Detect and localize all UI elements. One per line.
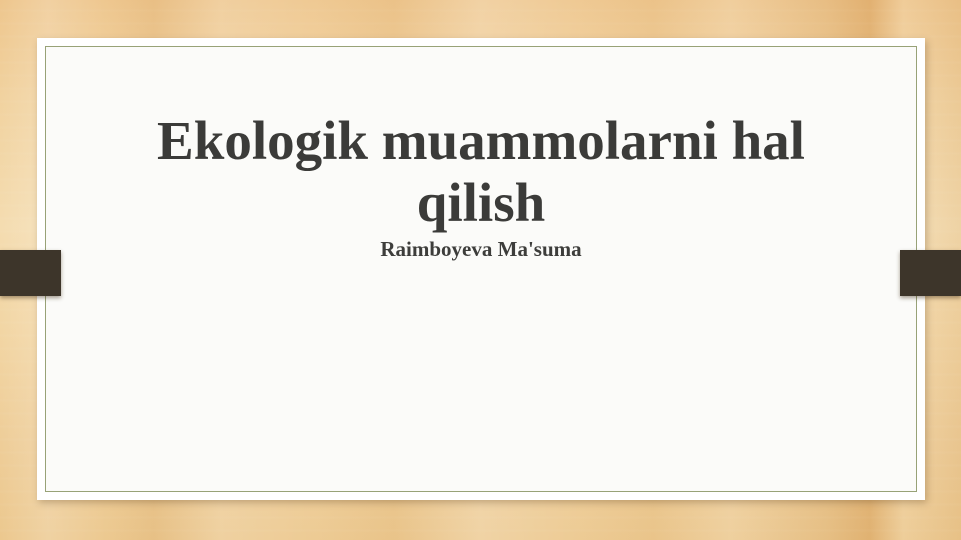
slide-content: Ekologik muammolarni hal qilish Raimboye… xyxy=(45,46,917,492)
slide-title: Ekologik muammolarni hal qilish xyxy=(105,110,857,233)
presentation-slide: Ekologik muammolarni hal qilish Raimboye… xyxy=(0,0,961,540)
slide-subtitle: Raimboyeva Ma'suma xyxy=(105,237,857,262)
